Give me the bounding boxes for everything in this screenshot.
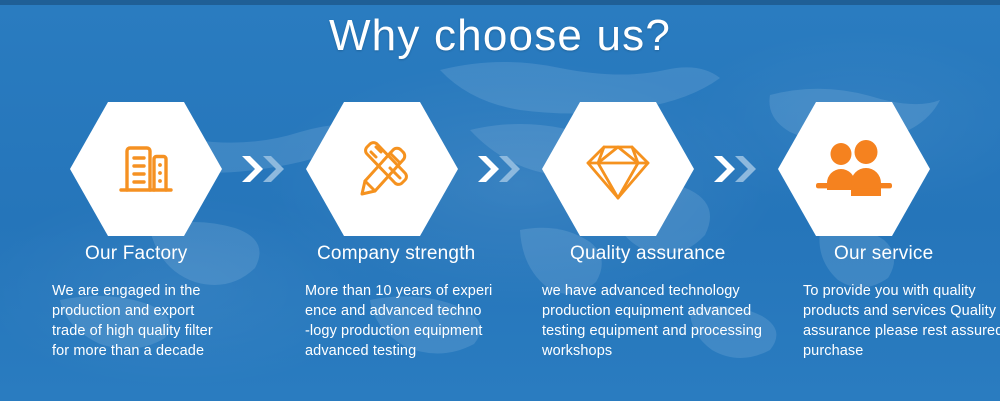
- step-body-line: advanced testing: [305, 341, 539, 361]
- step-body: To provide you with quality products and…: [803, 281, 1000, 361]
- step-body-line: ence and advanced techno: [305, 301, 539, 321]
- step-body: we have advanced technology production e…: [542, 281, 800, 361]
- hexagon-shape: [542, 102, 694, 236]
- step-text-4: Our service To provide you with quality …: [800, 243, 1000, 393]
- step-body-line: production and export: [52, 301, 302, 321]
- step-text-2: Company strength More than 10 years of e…: [302, 243, 539, 393]
- hexagon-step-3[interactable]: [542, 102, 694, 236]
- step-body-line: workshops: [542, 341, 800, 361]
- step-body-line: testing equipment and processing: [542, 321, 800, 341]
- people-icon: [813, 136, 895, 202]
- step-body: We are engaged in the production and exp…: [52, 281, 302, 361]
- hexagon-shape: [306, 102, 458, 236]
- step-heading: Our Factory: [52, 243, 302, 265]
- step-body-line: for more than a decade: [52, 341, 302, 361]
- building-icon: [110, 133, 182, 205]
- step-body-line: products and services Quality: [803, 301, 1000, 321]
- step-body: More than 10 years of experi ence and ad…: [305, 281, 539, 361]
- separator-arrow-1: [222, 149, 306, 189]
- step-body-line: We are engaged in the: [52, 281, 302, 301]
- step-text-3: Quality assurance we have advanced techn…: [539, 243, 800, 393]
- hexagon-step-4[interactable]: [778, 102, 930, 236]
- step-body-line: we have advanced technology: [542, 281, 800, 301]
- step-body-line: -logy production equipment: [305, 321, 539, 341]
- step-body-line: More than 10 years of experi: [305, 281, 539, 301]
- why-choose-us-banner: Why choose us?: [0, 0, 1000, 401]
- step-heading: Our service: [803, 243, 1000, 265]
- separator-arrow-2: [458, 149, 542, 189]
- hexagon-step-2[interactable]: [306, 102, 458, 236]
- hexagon-shape: [778, 102, 930, 236]
- page-title: Why choose us?: [0, 4, 1000, 68]
- hexagon-shape: [70, 102, 222, 236]
- step-text-1: Our Factory We are engaged in the produc…: [0, 243, 302, 393]
- chevron-right-double-icon: [474, 152, 526, 186]
- step-body-line: purchase: [803, 341, 1000, 361]
- hexagon-step-1[interactable]: [70, 102, 222, 236]
- step-body-line: trade of high quality filter: [52, 321, 302, 341]
- step-heading: Quality assurance: [542, 243, 800, 265]
- chevron-right-double-icon: [238, 152, 290, 186]
- step-heading: Company strength: [305, 243, 539, 265]
- steps-text-row: Our Factory We are engaged in the produc…: [0, 243, 1000, 393]
- step-body-line: production equipment advanced: [542, 301, 800, 321]
- separator-arrow-3: [694, 149, 778, 189]
- pencil-ruler-icon: [345, 132, 419, 206]
- diamond-icon: [578, 132, 658, 206]
- step-body-line: assurance please rest assured: [803, 321, 1000, 341]
- steps-icon-row: [0, 99, 1000, 239]
- step-body-line: To provide you with quality: [803, 281, 1000, 301]
- chevron-right-double-icon: [710, 152, 762, 186]
